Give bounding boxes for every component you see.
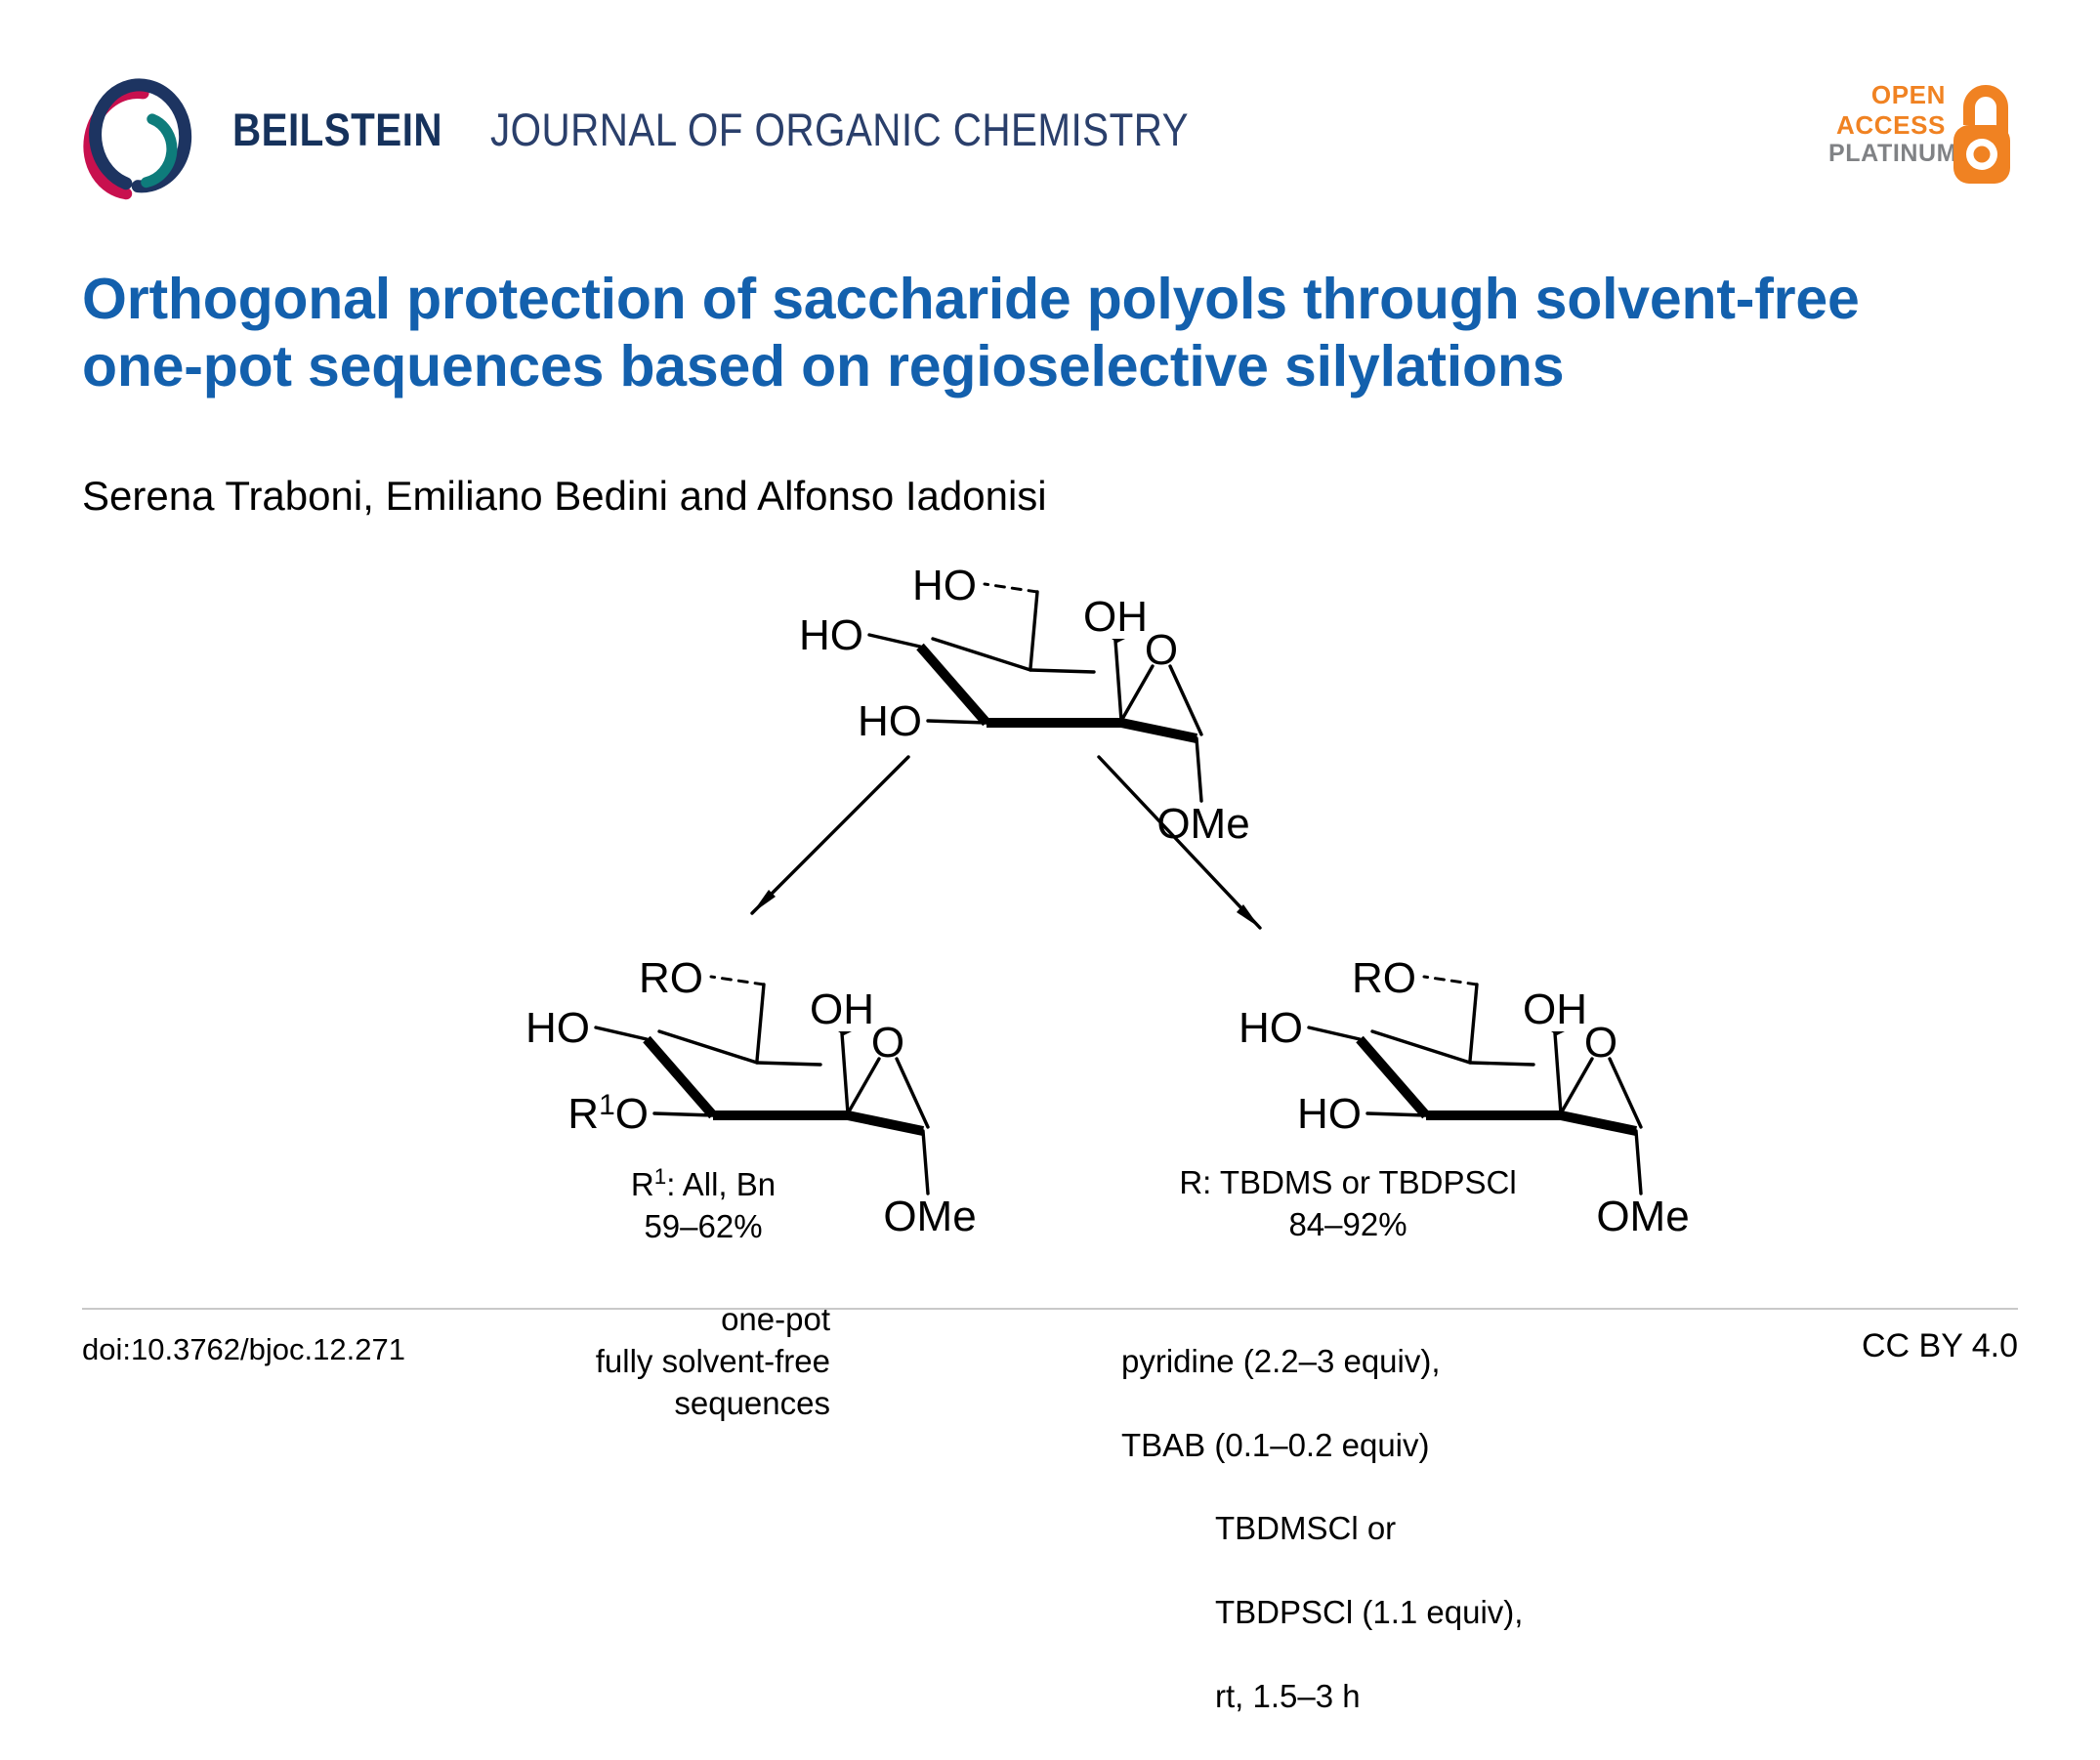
open-access-line-platinum: PLATINUM [1828, 140, 1946, 169]
right-product-r-definition: R: TBDMS or TBDPSCl [1133, 1162, 1563, 1204]
label-c2-oh: OH [810, 985, 874, 1033]
label-ring-o: O [871, 1019, 904, 1067]
structure-left-product [596, 977, 928, 1194]
label-anomeric-ome: OMe [883, 1193, 976, 1240]
right-reaction-conditions: pyridine (2.2–3 equiv), TBAB (0.1–0.2 eq… [1121, 1299, 1556, 1760]
label-ring-o: O [1584, 1019, 1617, 1067]
journal-title-bold: BEILSTEIN [232, 106, 442, 152]
reaction-scheme: HO HO HO OH O OMe RO HO R1O OH O OMe [0, 547, 2100, 1270]
left-product-yield: 59–62% [527, 1206, 879, 1248]
r-superscript: 1 [654, 1164, 666, 1189]
r-letter: R [631, 1166, 654, 1202]
cond-line-5: rt, 1.5–3 h [1121, 1676, 1556, 1718]
left-reaction-conditions: one-pot fully solvent-free sequences [562, 1299, 830, 1425]
label-c6-or: RO [1352, 954, 1416, 1002]
label-anomeric-ome: OMe [1596, 1193, 1689, 1240]
structure-starting-material [869, 584, 1201, 801]
open-access-line-open: OPEN [1828, 80, 1946, 110]
label-c4-oh: HO [1239, 1004, 1303, 1052]
label-c3-oh: HO [1297, 1090, 1362, 1138]
label-c4-oh: HO [525, 1004, 590, 1052]
structure-right-product [1309, 977, 1641, 1194]
open-access-text: OPEN ACCESS PLATINUM [1828, 80, 1946, 169]
reaction-scheme-drawing: HO HO HO OH O OMe RO HO R1O OH O OMe [0, 547, 2100, 1270]
arrow-to-left-product [752, 757, 908, 913]
page-title: Orthogonal protection of saccharide poly… [82, 266, 1967, 400]
beilstein-logo-icon [83, 78, 205, 200]
cond-line-4: TBDPSCl (1.1 equiv), [1121, 1592, 1556, 1634]
label-c2-oh: OH [1083, 593, 1148, 641]
cond-line-1: pyridine (2.2–3 equiv), [1121, 1343, 1441, 1379]
label-c4-oh: HO [799, 611, 863, 659]
label-c3-or1: R1O [567, 1089, 649, 1138]
r-values: : All, Bn [666, 1166, 776, 1202]
cond-line-2: TBAB (0.1–0.2 equiv) [1121, 1427, 1430, 1463]
label-ring-o: O [1145, 626, 1178, 674]
label-c2-oh: OH [1523, 985, 1587, 1033]
label-anomeric-ome: OMe [1156, 800, 1249, 848]
label-c6-oh: HO [912, 562, 977, 609]
open-lock-icon [1950, 82, 2014, 188]
left-product-caption: R1: All, Bn 59–62% [527, 1162, 879, 1248]
label-c3-oh: HO [858, 697, 922, 745]
doi-text[interactable]: doi:10.3762/bjoc.12.271 [82, 1332, 405, 1367]
journal-title: BEILSTEINJOURNAL OF ORGANIC CHEMISTRY [232, 106, 1302, 152]
author-list: Serena Traboni, Emiliano Bedini and Alfo… [82, 472, 1938, 521]
right-product-caption: R: TBDMS or TBDPSCl 84–92% [1133, 1162, 1563, 1246]
license-text: CC BY 4.0 [1862, 1327, 2018, 1365]
open-access-line-access: ACCESS [1828, 110, 1946, 141]
journal-title-rest: JOURNAL OF ORGANIC CHEMISTRY [490, 106, 1189, 152]
left-product-r-definition: R1: All, Bn [527, 1162, 879, 1206]
label-c6-or: RO [639, 954, 703, 1002]
open-access-badge: OPEN ACCESS PLATINUM [1828, 80, 2014, 189]
masthead: BEILSTEINJOURNAL OF ORGANIC CHEMISTRY OP… [0, 0, 2100, 225]
footer-divider [82, 1308, 2018, 1310]
graphical-abstract-page: BEILSTEINJOURNAL OF ORGANIC CHEMISTRY OP… [0, 0, 2100, 1447]
right-product-yield: 84–92% [1133, 1204, 1563, 1246]
cond-line-3: TBDMSCl or [1121, 1508, 1556, 1550]
